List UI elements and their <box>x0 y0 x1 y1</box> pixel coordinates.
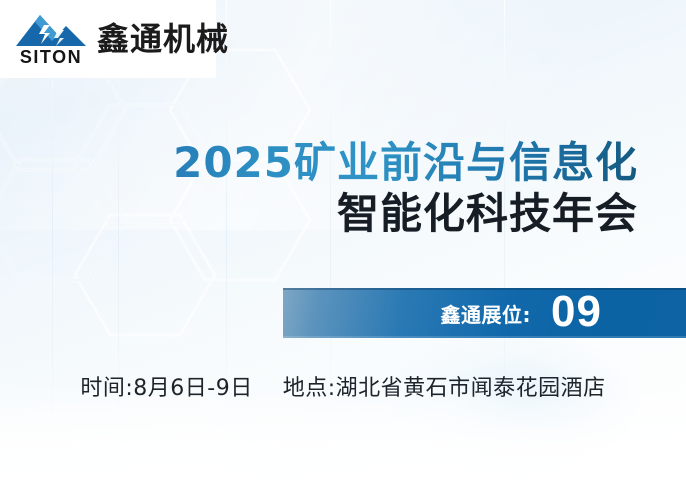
logo-mark-group: SITON <box>14 13 88 66</box>
vertical-light-streak-5 <box>504 0 505 500</box>
bottom-cloud-shape <box>180 330 610 500</box>
exhibition-poster: SITON 鑫通机械 2025矿业前沿与信息化 智能化科技年会 鑫通展位: 09… <box>0 0 686 500</box>
headline-line-2: 智能化科技年会 <box>0 188 638 240</box>
event-location: 地点:湖北省黄石市闻泰花园酒店 <box>283 370 606 402</box>
booth-number-banner: 鑫通展位: 09 <box>283 288 686 338</box>
poster-headline: 2025矿业前沿与信息化 智能化科技年会 <box>0 138 660 240</box>
event-info-row: 时间:8月6日-9日 地点:湖北省黄石市闻泰花园酒店 <box>0 370 686 402</box>
vertical-light-streak-3 <box>226 0 227 500</box>
siton-mountain-icon <box>14 13 88 47</box>
event-time: 时间:8月6日-9日 <box>80 370 252 402</box>
vertical-light-streak-4 <box>330 0 331 500</box>
headline-line-1: 2025矿业前沿与信息化 <box>0 138 638 188</box>
booth-number: 09 <box>551 290 602 334</box>
logo-latin-name: SITON <box>20 48 82 66</box>
booth-label: 鑫通展位: <box>441 299 532 328</box>
logo-chinese-name: 鑫通机械 <box>97 23 229 55</box>
company-logo[interactable]: SITON 鑫通机械 <box>0 0 216 78</box>
